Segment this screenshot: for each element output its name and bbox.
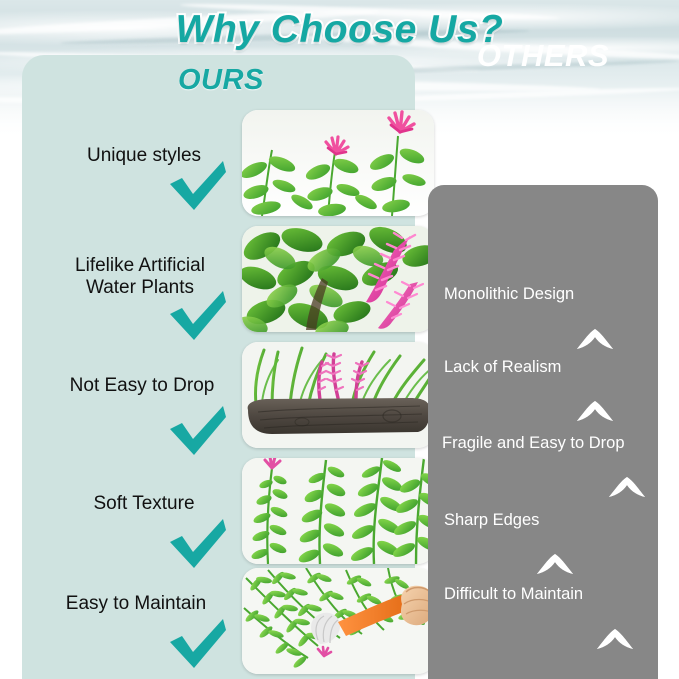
- ours-item-label-5: Easy to Maintain: [36, 593, 236, 615]
- check-icon: [168, 405, 228, 457]
- others-item-label-4: Sharp Edges: [444, 511, 539, 530]
- ours-item-image-4: [242, 458, 434, 564]
- check-icon: [168, 518, 228, 570]
- ours-item-image-1: [242, 110, 434, 216]
- infographic-canvas: Why Choose Us? OURS Unique styles: [0, 0, 679, 679]
- others-item-label-3: Fragile and Easy to Drop: [442, 434, 625, 453]
- check-icon: [168, 160, 228, 212]
- check-icon: [168, 618, 228, 670]
- others-item-label-1: Monolithic Design: [444, 285, 574, 304]
- others-item-label-5: Difficult to Maintain: [444, 585, 583, 604]
- check-icon: [168, 290, 228, 342]
- others-panel: [428, 185, 658, 679]
- ours-item-label-2-line1: Lifelike Artificial: [75, 255, 205, 276]
- others-heading: OTHERS: [428, 38, 658, 74]
- ours-item-image-5: [242, 568, 434, 674]
- others-item-label-2: Lack of Realism: [444, 358, 561, 377]
- ours-item-image-3: [242, 342, 434, 448]
- x-mark-icon: [573, 307, 617, 351]
- ours-item-image-2: [242, 226, 434, 332]
- x-mark-icon: [573, 379, 617, 423]
- x-mark-icon: [593, 607, 637, 651]
- x-mark-icon: [533, 532, 577, 576]
- ours-heading: OURS: [178, 64, 264, 97]
- x-mark-icon: [605, 455, 649, 499]
- ours-item-label-4: Soft Texture: [44, 493, 244, 515]
- ours-item-label-3: Not Easy to Drop: [42, 375, 242, 397]
